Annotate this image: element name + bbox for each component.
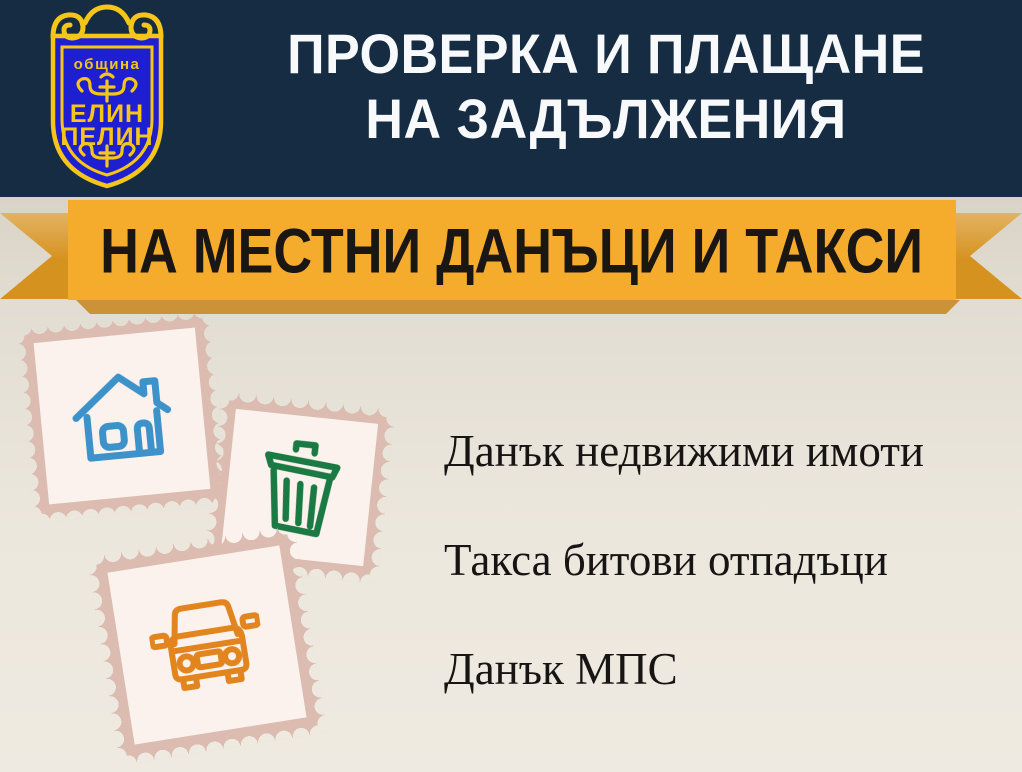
header-bar: община ЕЛИН ПЕЛИН ПРОВЕРКА И ПЛАЩАНЕ НА … bbox=[0, 0, 1022, 197]
logo-text-pelin: ПЕЛИН bbox=[60, 123, 153, 151]
logo-text-obshtina: община bbox=[74, 56, 141, 73]
arrow-bullet-icon bbox=[402, 445, 423, 469]
arrow-bullet-icon bbox=[402, 663, 423, 687]
page-title-line-2: НА ЗАДЪЛЖЕНИЯ bbox=[225, 87, 988, 152]
page-title-line-1: ПРОВЕРКА И ПЛАЩАНЕ bbox=[225, 22, 988, 87]
list-item-label: Такса битови отпадъци bbox=[444, 537, 888, 584]
list-item[interactable]: Данък недвижими имоти bbox=[402, 428, 1012, 475]
list-item[interactable]: Такса битови отпадъци bbox=[402, 537, 1012, 584]
ribbon-band: НА МЕСТНИ ДАНЪЦИ И ТАКСИ bbox=[68, 200, 956, 300]
list-item-label: Данък МПС bbox=[444, 646, 678, 693]
stamp-paper bbox=[34, 328, 211, 505]
house-icon bbox=[66, 365, 178, 467]
poster-canvas: община ЕЛИН ПЕЛИН ПРОВЕРКА И ПЛАЩАНЕ НА … bbox=[0, 0, 1022, 772]
stamp-card-car bbox=[87, 525, 327, 765]
ribbon-label: НА МЕСТНИ ДАНЪЦИ И ТАКСИ bbox=[101, 214, 924, 287]
trash-bin-icon bbox=[250, 435, 350, 540]
car-front-icon bbox=[144, 591, 269, 699]
municipality-logo: община ЕЛИН ПЕЛИН bbox=[22, 3, 192, 191]
subtitle-ribbon: НА МЕСТНИ ДАНЪЦИ И ТАКСИ bbox=[0, 196, 1022, 312]
list-item-label: Данък недвижими имоти bbox=[444, 428, 924, 475]
tax-types-list: Данък недвижими имоти Такса битови отпад… bbox=[402, 428, 1012, 692]
stamp-card-house bbox=[15, 309, 229, 523]
list-item[interactable]: Данък МПС bbox=[402, 646, 1012, 693]
page-title: ПРОВЕРКА И ПЛАЩАНЕ НА ЗАДЪЛЖЕНИЯ bbox=[225, 22, 988, 152]
ribbon-drop-shadow bbox=[76, 300, 960, 314]
arrow-bullet-icon bbox=[402, 554, 423, 578]
coat-of-arms-icon: община ЕЛИН ПЕЛИН bbox=[22, 3, 192, 191]
stamp-paper bbox=[107, 545, 306, 744]
